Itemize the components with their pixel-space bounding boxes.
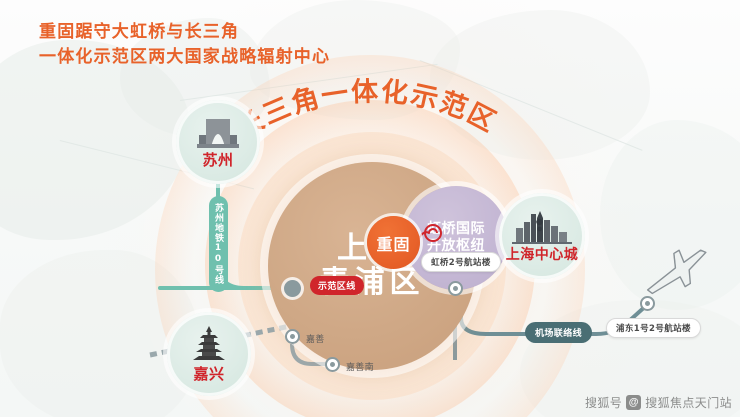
- station-label-jiashan: 嘉善: [306, 332, 325, 345]
- jiaxing-label: 嘉兴: [193, 363, 224, 384]
- node-suzhou[interactable]: 苏州: [176, 100, 260, 184]
- label-pudong-terminal-1-2[interactable]: 浦东1号2号航站楼: [606, 318, 701, 338]
- station-hongqiao-t2[interactable]: [448, 281, 463, 296]
- watermark-prefix: 搜狐号: [585, 394, 622, 411]
- suzhou-label: 苏州: [202, 149, 233, 170]
- watermark-suffix: 搜狐焦点天门站: [645, 394, 732, 411]
- zhonggu-label: 重固: [376, 231, 410, 255]
- badge-suzhou-metro-10[interactable]: 苏州地铁10号线: [209, 196, 228, 292]
- node-shanghai-central-city[interactable]: 上海中心城: [499, 193, 585, 279]
- badge-demonstration-zone-line[interactable]: 示范区线: [310, 276, 364, 295]
- sohu-logo-icon: @: [626, 395, 641, 410]
- node-jiaxing[interactable]: 嘉兴: [167, 312, 251, 396]
- station-jiashan[interactable]: [285, 329, 300, 344]
- skyline-icon: [512, 208, 572, 244]
- suzhou-gate-icon: [195, 115, 241, 149]
- infographic-canvas: 重固踞守大虹桥与长三角 一体化示范区两大国家战略辐射中心 长三角一体化示范区 上…: [0, 0, 740, 417]
- node-zhonggu[interactable]: 重固: [367, 216, 420, 269]
- watermark: 搜狐号 @ 搜狐焦点天门站: [585, 394, 732, 411]
- station-label-jiashan-south: 嘉善南: [346, 360, 374, 373]
- shanghai-central-label: 上海中心城: [506, 244, 579, 264]
- pagoda-icon: [188, 325, 230, 363]
- interchange-dot-qingpu[interactable]: [284, 280, 301, 297]
- transfer-icon: [418, 222, 444, 244]
- station-jiashan-south[interactable]: [325, 357, 340, 372]
- label-hongqiao-terminal-2[interactable]: 虹桥2号航站楼: [421, 252, 501, 272]
- badge-airport-link-line[interactable]: 机场联络线: [525, 322, 592, 343]
